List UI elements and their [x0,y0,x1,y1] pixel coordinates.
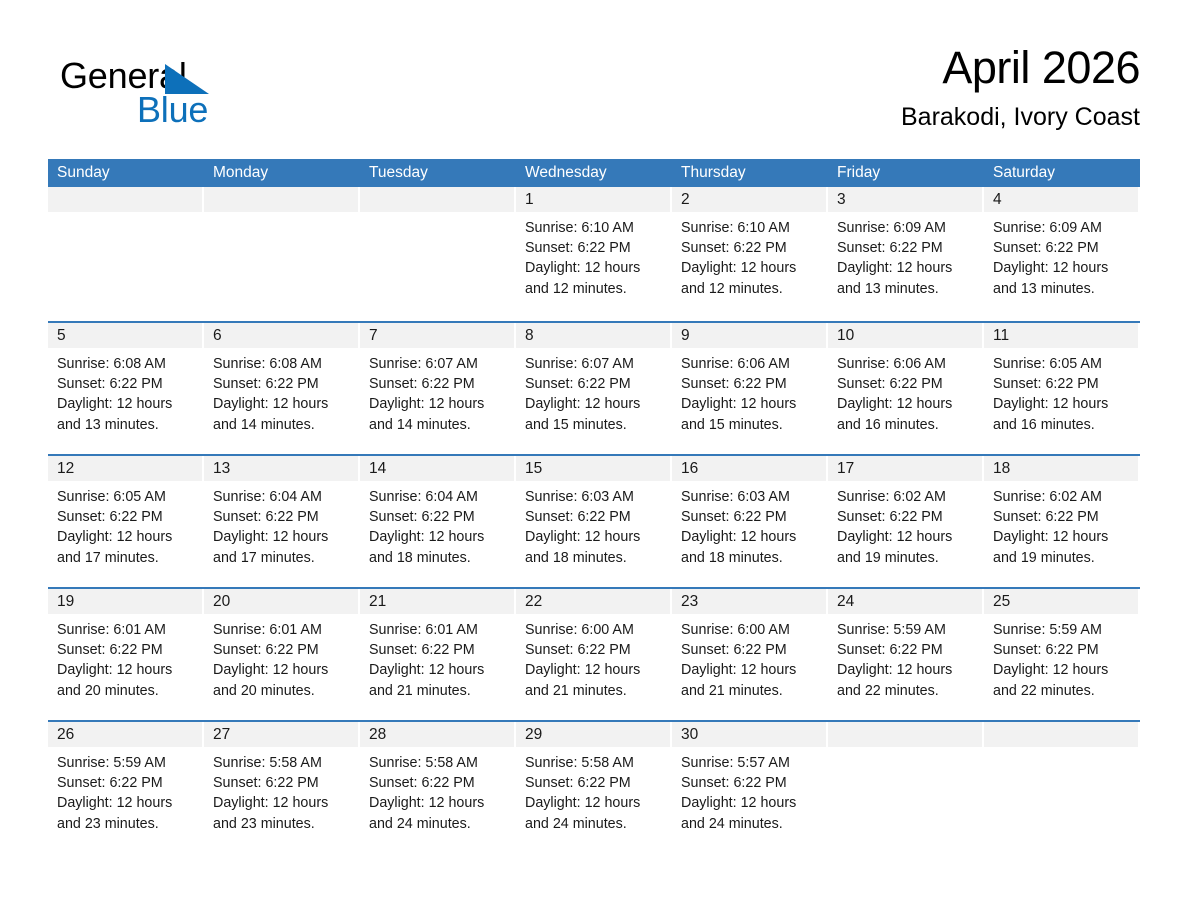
daylight-text: and 22 minutes. [993,681,1134,701]
day-number: 19 [48,589,202,614]
day-number [48,187,202,212]
day-number: 29 [516,722,670,747]
weekday-header-row: SundayMondayTuesdayWednesdayThursdayFrid… [48,159,1140,187]
sunrise-text: Sunrise: 5:58 AM [525,753,666,773]
daylight-text: and 14 minutes. [213,415,354,435]
day-details: Sunrise: 6:01 AMSunset: 6:22 PMDaylight:… [48,614,204,701]
page-header: General Blue April 2026 Barakodi, Ivory … [48,40,1140,150]
day-number: 27 [204,722,358,747]
calendar-day-cell[interactable]: 10Sunrise: 6:06 AMSunset: 6:22 PMDayligh… [828,323,984,454]
daylight-text: and 23 minutes. [213,814,354,834]
day-number: 23 [672,589,826,614]
day-details: Sunrise: 6:02 AMSunset: 6:22 PMDaylight:… [828,481,984,568]
sunset-text: Sunset: 6:22 PM [57,773,198,793]
daylight-text: and 12 minutes. [681,279,822,299]
calendar-day-cell[interactable]: 25Sunrise: 5:59 AMSunset: 6:22 PMDayligh… [984,589,1140,720]
day-number: 24 [828,589,982,614]
calendar-day-cell[interactable]: 1Sunrise: 6:10 AMSunset: 6:22 PMDaylight… [516,187,672,321]
calendar-day-cell[interactable]: 13Sunrise: 6:04 AMSunset: 6:22 PMDayligh… [204,456,360,587]
calendar-day-cell[interactable]: 24Sunrise: 5:59 AMSunset: 6:22 PMDayligh… [828,589,984,720]
day-details: Sunrise: 6:03 AMSunset: 6:22 PMDaylight:… [516,481,672,568]
daylight-text: and 24 minutes. [681,814,822,834]
daylight-text: Daylight: 12 hours [213,527,354,547]
daylight-text: Daylight: 12 hours [57,527,198,547]
sunset-text: Sunset: 6:22 PM [681,773,822,793]
sunrise-text: Sunrise: 6:07 AM [369,354,510,374]
daylight-text: and 12 minutes. [525,279,666,299]
day-details: Sunrise: 6:00 AMSunset: 6:22 PMDaylight:… [516,614,672,701]
sunset-text: Sunset: 6:22 PM [57,640,198,660]
daylight-text: and 22 minutes. [837,681,978,701]
day-details: Sunrise: 6:05 AMSunset: 6:22 PMDaylight:… [984,348,1140,435]
sunrise-text: Sunrise: 6:08 AM [57,354,198,374]
calendar-day-cell[interactable]: 18Sunrise: 6:02 AMSunset: 6:22 PMDayligh… [984,456,1140,587]
daylight-text: Daylight: 12 hours [369,793,510,813]
day-number: 17 [828,456,982,481]
calendar-day-cell[interactable]: 26Sunrise: 5:59 AMSunset: 6:22 PMDayligh… [48,722,204,853]
calendar-day-cell[interactable]: 16Sunrise: 6:03 AMSunset: 6:22 PMDayligh… [672,456,828,587]
page-title: April 2026 [901,40,1140,96]
sunset-text: Sunset: 6:22 PM [525,238,666,258]
calendar-day-cell-empty [984,722,1140,853]
sunset-text: Sunset: 6:22 PM [57,507,198,527]
weekday-header-tuesday: Tuesday [360,159,516,187]
calendar-day-cell[interactable]: 20Sunrise: 6:01 AMSunset: 6:22 PMDayligh… [204,589,360,720]
calendar-day-cell-empty [828,722,984,853]
daylight-text: Daylight: 12 hours [369,394,510,414]
calendar-day-cell[interactable]: 8Sunrise: 6:07 AMSunset: 6:22 PMDaylight… [516,323,672,454]
day-details: Sunrise: 6:06 AMSunset: 6:22 PMDaylight:… [672,348,828,435]
weekday-header-monday: Monday [204,159,360,187]
weekday-header-thursday: Thursday [672,159,828,187]
day-number: 7 [360,323,514,348]
daylight-text: Daylight: 12 hours [369,527,510,547]
daylight-text: Daylight: 12 hours [837,258,978,278]
daylight-text: and 17 minutes. [57,548,198,568]
day-number: 18 [984,456,1138,481]
sunset-text: Sunset: 6:22 PM [525,374,666,394]
daylight-text: and 19 minutes. [837,548,978,568]
day-details: Sunrise: 6:10 AMSunset: 6:22 PMDaylight:… [516,212,672,299]
sunset-text: Sunset: 6:22 PM [993,238,1134,258]
day-number: 15 [516,456,670,481]
daylight-text: Daylight: 12 hours [57,394,198,414]
calendar-week-row: 12Sunrise: 6:05 AMSunset: 6:22 PMDayligh… [48,454,1140,587]
calendar-day-cell-empty [48,187,204,321]
calendar-day-cell[interactable]: 12Sunrise: 6:05 AMSunset: 6:22 PMDayligh… [48,456,204,587]
day-details: Sunrise: 5:59 AMSunset: 6:22 PMDaylight:… [48,747,204,834]
day-number: 8 [516,323,670,348]
sunrise-text: Sunrise: 5:58 AM [213,753,354,773]
day-number [828,722,982,747]
sunset-text: Sunset: 6:22 PM [369,773,510,793]
calendar-day-cell-empty [204,187,360,321]
day-details: Sunrise: 6:10 AMSunset: 6:22 PMDaylight:… [672,212,828,299]
day-details: Sunrise: 6:02 AMSunset: 6:22 PMDaylight:… [984,481,1140,568]
day-details [48,212,204,218]
sunrise-text: Sunrise: 6:01 AM [213,620,354,640]
day-details: Sunrise: 6:01 AMSunset: 6:22 PMDaylight:… [360,614,516,701]
sunset-text: Sunset: 6:22 PM [681,374,822,394]
daylight-text: and 18 minutes. [525,548,666,568]
day-number: 21 [360,589,514,614]
calendar-grid: SundayMondayTuesdayWednesdayThursdayFrid… [48,159,1140,853]
day-details: Sunrise: 6:01 AMSunset: 6:22 PMDaylight:… [204,614,360,701]
sunrise-text: Sunrise: 6:01 AM [369,620,510,640]
day-number: 4 [984,187,1138,212]
sunset-text: Sunset: 6:22 PM [993,640,1134,660]
day-details: Sunrise: 5:58 AMSunset: 6:22 PMDaylight:… [204,747,360,834]
sunset-text: Sunset: 6:22 PM [837,374,978,394]
daylight-text: and 23 minutes. [57,814,198,834]
day-number: 11 [984,323,1138,348]
day-details: Sunrise: 5:59 AMSunset: 6:22 PMDaylight:… [984,614,1140,701]
calendar-day-cell[interactable]: 19Sunrise: 6:01 AMSunset: 6:22 PMDayligh… [48,589,204,720]
sunrise-text: Sunrise: 6:06 AM [681,354,822,374]
daylight-text: Daylight: 12 hours [525,527,666,547]
sunrise-text: Sunrise: 6:04 AM [369,487,510,507]
day-details: Sunrise: 6:08 AMSunset: 6:22 PMDaylight:… [48,348,204,435]
sunrise-text: Sunrise: 6:07 AM [525,354,666,374]
sunset-text: Sunset: 6:22 PM [525,507,666,527]
day-details: Sunrise: 5:57 AMSunset: 6:22 PMDaylight:… [672,747,828,834]
daylight-text: and 13 minutes. [993,279,1134,299]
sunset-text: Sunset: 6:22 PM [213,773,354,793]
day-number [984,722,1138,747]
day-details [360,212,516,218]
daylight-text: and 14 minutes. [369,415,510,435]
daylight-text: Daylight: 12 hours [681,660,822,680]
sunrise-text: Sunrise: 6:02 AM [993,487,1134,507]
daylight-text: Daylight: 12 hours [213,793,354,813]
logo-text-blue: Blue [137,90,208,130]
sunset-text: Sunset: 6:22 PM [213,507,354,527]
daylight-text: and 20 minutes. [213,681,354,701]
daylight-text: and 13 minutes. [837,279,978,299]
daylight-text: and 15 minutes. [681,415,822,435]
sunset-text: Sunset: 6:22 PM [681,507,822,527]
daylight-text: Daylight: 12 hours [525,660,666,680]
sunrise-text: Sunrise: 5:59 AM [57,753,198,773]
daylight-text: Daylight: 12 hours [681,793,822,813]
generalblue-logo[interactable]: General Blue [60,50,260,136]
calendar-week-row: 1Sunrise: 6:10 AMSunset: 6:22 PMDaylight… [48,187,1140,321]
day-number: 14 [360,456,514,481]
sunset-text: Sunset: 6:22 PM [681,640,822,660]
weekday-header-friday: Friday [828,159,984,187]
daylight-text: and 21 minutes. [525,681,666,701]
daylight-text: Daylight: 12 hours [993,527,1134,547]
weekday-header-wednesday: Wednesday [516,159,672,187]
day-number [204,187,358,212]
day-number: 6 [204,323,358,348]
daylight-text: and 15 minutes. [525,415,666,435]
day-details: Sunrise: 6:03 AMSunset: 6:22 PMDaylight:… [672,481,828,568]
day-number: 3 [828,187,982,212]
sunrise-text: Sunrise: 6:09 AM [837,218,978,238]
sunrise-text: Sunrise: 6:05 AM [57,487,198,507]
calendar-week-row: 19Sunrise: 6:01 AMSunset: 6:22 PMDayligh… [48,587,1140,720]
day-number [360,187,514,212]
sunrise-text: Sunrise: 6:05 AM [993,354,1134,374]
daylight-text: and 13 minutes. [57,415,198,435]
calendar-day-cell[interactable]: 5Sunrise: 6:08 AMSunset: 6:22 PMDaylight… [48,323,204,454]
daylight-text: Daylight: 12 hours [525,394,666,414]
daylight-text: Daylight: 12 hours [837,394,978,414]
day-details [204,212,360,218]
sunrise-text: Sunrise: 5:58 AM [369,753,510,773]
daylight-text: Daylight: 12 hours [993,660,1134,680]
calendar-day-cell[interactable]: 6Sunrise: 6:08 AMSunset: 6:22 PMDaylight… [204,323,360,454]
daylight-text: Daylight: 12 hours [993,394,1134,414]
sunrise-text: Sunrise: 6:04 AM [213,487,354,507]
day-number: 5 [48,323,202,348]
daylight-text: Daylight: 12 hours [525,793,666,813]
day-number: 20 [204,589,358,614]
weekday-header-sunday: Sunday [48,159,204,187]
sunrise-text: Sunrise: 6:00 AM [525,620,666,640]
daylight-text: Daylight: 12 hours [681,258,822,278]
calendar-day-cell[interactable]: 11Sunrise: 6:05 AMSunset: 6:22 PMDayligh… [984,323,1140,454]
day-number: 1 [516,187,670,212]
sunset-text: Sunset: 6:22 PM [837,640,978,660]
daylight-text: and 24 minutes. [525,814,666,834]
sunset-text: Sunset: 6:22 PM [993,507,1134,527]
daylight-text: Daylight: 12 hours [213,660,354,680]
day-details: Sunrise: 6:07 AMSunset: 6:22 PMDaylight:… [516,348,672,435]
day-details: Sunrise: 6:00 AMSunset: 6:22 PMDaylight:… [672,614,828,701]
day-details: Sunrise: 5:59 AMSunset: 6:22 PMDaylight:… [828,614,984,701]
sunrise-text: Sunrise: 6:03 AM [681,487,822,507]
sunrise-text: Sunrise: 6:03 AM [525,487,666,507]
sunrise-text: Sunrise: 6:00 AM [681,620,822,640]
sunrise-text: Sunrise: 6:08 AM [213,354,354,374]
daylight-text: and 19 minutes. [993,548,1134,568]
sunset-text: Sunset: 6:22 PM [369,640,510,660]
calendar-day-cell[interactable]: 2Sunrise: 6:10 AMSunset: 6:22 PMDaylight… [672,187,828,321]
day-number: 22 [516,589,670,614]
day-details [984,747,1140,753]
daylight-text: Daylight: 12 hours [57,793,198,813]
daylight-text: and 20 minutes. [57,681,198,701]
sunset-text: Sunset: 6:22 PM [213,640,354,660]
calendar-weeks: 1Sunrise: 6:10 AMSunset: 6:22 PMDaylight… [48,187,1140,853]
daylight-text: and 24 minutes. [369,814,510,834]
daylight-text: Daylight: 12 hours [525,258,666,278]
day-number: 30 [672,722,826,747]
title-block: April 2026 Barakodi, Ivory Coast [901,40,1140,134]
daylight-text: Daylight: 12 hours [213,394,354,414]
calendar-day-cell[interactable]: 3Sunrise: 6:09 AMSunset: 6:22 PMDaylight… [828,187,984,321]
calendar-day-cell[interactable]: 23Sunrise: 6:00 AMSunset: 6:22 PMDayligh… [672,589,828,720]
daylight-text: and 16 minutes. [837,415,978,435]
daylight-text: Daylight: 12 hours [681,527,822,547]
sunrise-text: Sunrise: 5:57 AM [681,753,822,773]
sunset-text: Sunset: 6:22 PM [369,507,510,527]
daylight-text: Daylight: 12 hours [369,660,510,680]
day-details: Sunrise: 6:04 AMSunset: 6:22 PMDaylight:… [360,481,516,568]
calendar-day-cell[interactable]: 4Sunrise: 6:09 AMSunset: 6:22 PMDaylight… [984,187,1140,321]
day-details: Sunrise: 6:09 AMSunset: 6:22 PMDaylight:… [828,212,984,299]
sunrise-text: Sunrise: 6:09 AM [993,218,1134,238]
calendar-day-cell[interactable]: 21Sunrise: 6:01 AMSunset: 6:22 PMDayligh… [360,589,516,720]
calendar-week-row: 26Sunrise: 5:59 AMSunset: 6:22 PMDayligh… [48,720,1140,853]
sunset-text: Sunset: 6:22 PM [525,640,666,660]
sunrise-text: Sunrise: 5:59 AM [993,620,1134,640]
daylight-text: Daylight: 12 hours [837,660,978,680]
day-details: Sunrise: 5:58 AMSunset: 6:22 PMDaylight:… [360,747,516,834]
daylight-text: Daylight: 12 hours [993,258,1134,278]
day-details: Sunrise: 6:07 AMSunset: 6:22 PMDaylight:… [360,348,516,435]
daylight-text: and 21 minutes. [369,681,510,701]
sunset-text: Sunset: 6:22 PM [681,238,822,258]
day-number: 2 [672,187,826,212]
sunset-text: Sunset: 6:22 PM [369,374,510,394]
daylight-text: and 16 minutes. [993,415,1134,435]
day-details: Sunrise: 6:06 AMSunset: 6:22 PMDaylight:… [828,348,984,435]
day-number: 10 [828,323,982,348]
calendar-day-cell[interactable]: 15Sunrise: 6:03 AMSunset: 6:22 PMDayligh… [516,456,672,587]
day-number: 9 [672,323,826,348]
calendar-day-cell[interactable]: 14Sunrise: 6:04 AMSunset: 6:22 PMDayligh… [360,456,516,587]
sunset-text: Sunset: 6:22 PM [837,507,978,527]
day-details: Sunrise: 6:09 AMSunset: 6:22 PMDaylight:… [984,212,1140,299]
sunset-text: Sunset: 6:22 PM [837,238,978,258]
sunrise-text: Sunrise: 6:01 AM [57,620,198,640]
daylight-text: Daylight: 12 hours [837,527,978,547]
calendar-day-cell[interactable]: 29Sunrise: 5:58 AMSunset: 6:22 PMDayligh… [516,722,672,853]
day-number: 28 [360,722,514,747]
day-details: Sunrise: 6:05 AMSunset: 6:22 PMDaylight:… [48,481,204,568]
calendar-week-row: 5Sunrise: 6:08 AMSunset: 6:22 PMDaylight… [48,321,1140,454]
day-details: Sunrise: 6:08 AMSunset: 6:22 PMDaylight:… [204,348,360,435]
sunrise-text: Sunrise: 6:10 AM [681,218,822,238]
daylight-text: Daylight: 12 hours [57,660,198,680]
sunset-text: Sunset: 6:22 PM [993,374,1134,394]
calendar-day-cell-empty [360,187,516,321]
daylight-text: Daylight: 12 hours [681,394,822,414]
daylight-text: and 18 minutes. [369,548,510,568]
day-details: Sunrise: 6:04 AMSunset: 6:22 PMDaylight:… [204,481,360,568]
day-number: 26 [48,722,202,747]
sunset-text: Sunset: 6:22 PM [213,374,354,394]
calendar-day-cell[interactable]: 9Sunrise: 6:06 AMSunset: 6:22 PMDaylight… [672,323,828,454]
calendar-day-cell[interactable]: 7Sunrise: 6:07 AMSunset: 6:22 PMDaylight… [360,323,516,454]
page-subtitle-location: Barakodi, Ivory Coast [901,100,1140,134]
sunset-text: Sunset: 6:22 PM [525,773,666,793]
calendar-day-cell[interactable]: 27Sunrise: 5:58 AMSunset: 6:22 PMDayligh… [204,722,360,853]
sunrise-text: Sunrise: 6:06 AM [837,354,978,374]
calendar-day-cell[interactable]: 22Sunrise: 6:00 AMSunset: 6:22 PMDayligh… [516,589,672,720]
day-number: 25 [984,589,1138,614]
daylight-text: and 21 minutes. [681,681,822,701]
calendar-day-cell[interactable]: 28Sunrise: 5:58 AMSunset: 6:22 PMDayligh… [360,722,516,853]
day-number: 13 [204,456,358,481]
sunrise-text: Sunrise: 5:59 AM [837,620,978,640]
calendar-page: General Blue April 2026 Barakodi, Ivory … [0,0,1188,918]
day-details [828,747,984,753]
sunrise-text: Sunrise: 6:10 AM [525,218,666,238]
calendar-day-cell[interactable]: 30Sunrise: 5:57 AMSunset: 6:22 PMDayligh… [672,722,828,853]
day-number: 16 [672,456,826,481]
daylight-text: and 17 minutes. [213,548,354,568]
weekday-header-saturday: Saturday [984,159,1140,187]
daylight-text: and 18 minutes. [681,548,822,568]
day-details: Sunrise: 5:58 AMSunset: 6:22 PMDaylight:… [516,747,672,834]
sunrise-text: Sunrise: 6:02 AM [837,487,978,507]
day-number: 12 [48,456,202,481]
calendar-day-cell[interactable]: 17Sunrise: 6:02 AMSunset: 6:22 PMDayligh… [828,456,984,587]
sunset-text: Sunset: 6:22 PM [57,374,198,394]
